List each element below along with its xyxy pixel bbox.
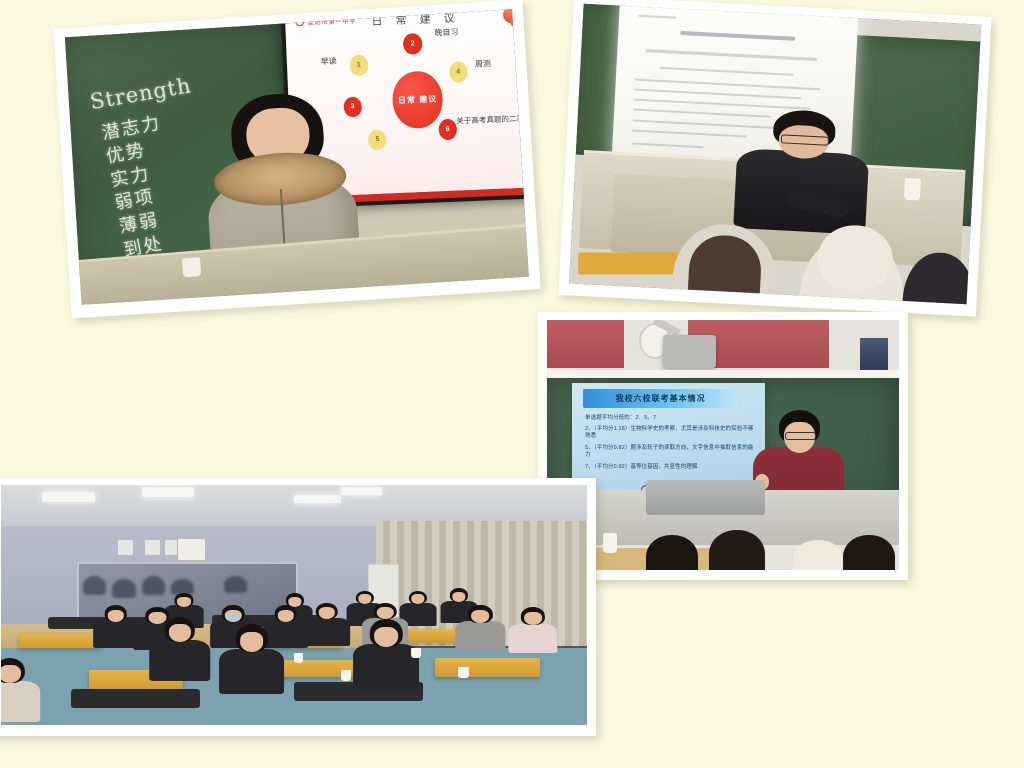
slide-label-evening-study: 晚自习 bbox=[434, 26, 458, 38]
paper-cup bbox=[904, 178, 921, 201]
desk-r1c bbox=[435, 658, 540, 677]
audience-head-2 bbox=[709, 530, 765, 570]
lantern-decoration bbox=[496, 9, 529, 37]
wall-panel-left bbox=[547, 320, 624, 368]
attendee-r2-7 bbox=[517, 607, 550, 648]
slide-label-exam-reuse: 关于高考真题的二次 开发利用 bbox=[456, 113, 529, 127]
slide-node-1: 1 bbox=[349, 54, 368, 75]
photo-2-image bbox=[569, 4, 981, 304]
slide-node-5: 5 bbox=[368, 129, 387, 150]
seat-back-r1a bbox=[71, 689, 200, 708]
ceiling-projector bbox=[663, 335, 716, 368]
slide-node-2: 2 bbox=[403, 33, 422, 54]
slide-bullet-1: 单选题平均分低的：2、5、7 bbox=[585, 415, 656, 422]
glasses-icon bbox=[785, 432, 816, 440]
slide-center-node: 日常 建议 bbox=[392, 70, 444, 129]
paper-cup-4 bbox=[458, 667, 469, 678]
audience-head-3 bbox=[793, 540, 842, 570]
ceiling-light-1 bbox=[42, 492, 95, 502]
slide-label-weekly-test: 周测 bbox=[475, 59, 491, 71]
photo-3-image: 我校六校联考基本情况 单选题平均分低的：2、5、7 2、（平均分1.18）生物科… bbox=[547, 320, 899, 570]
chalkboard-chinese-text: 潜志力 优势 实力 弱项 薄弱 到处 bbox=[100, 112, 185, 263]
wall-speaker-1 bbox=[118, 540, 133, 554]
photo-female-teacher-red-slide[interactable]: Strength 潜志力 优势 实力 弱项 薄弱 到处 昆阳市第一中学 日 常 … bbox=[53, 0, 540, 318]
attendee-r1-1 bbox=[159, 617, 200, 675]
back-row-person-3 bbox=[142, 576, 165, 595]
document-camera bbox=[646, 480, 766, 515]
attendee-r2-3 bbox=[271, 605, 301, 643]
desk-r2a bbox=[19, 634, 101, 648]
back-row-person-2 bbox=[112, 579, 135, 598]
wall-clock bbox=[177, 538, 206, 562]
slide-bullet-2: 2、（平均分1.18）生物科学史的考察，尤其是涉及科技史的实验不够熟悉 bbox=[585, 426, 755, 441]
attendee-r2-4 bbox=[312, 603, 342, 641]
slide-node-4: 4 bbox=[449, 61, 468, 82]
chalkboard-english-text: Strength bbox=[89, 73, 194, 114]
ceiling-light-3 bbox=[294, 495, 341, 503]
paper-cup-1 bbox=[294, 653, 303, 663]
wall-speaker bbox=[860, 338, 888, 373]
projected-document-title bbox=[680, 31, 795, 41]
collage-canvas: Strength 潜志力 优势 实力 弱项 薄弱 到处 昆阳市第一中学 日 常 … bbox=[0, 0, 1024, 768]
paper-cup-2 bbox=[341, 670, 352, 681]
attendee-r1-2 bbox=[230, 624, 274, 686]
slide-node-6: 6 bbox=[438, 119, 457, 140]
teacher-figure bbox=[748, 108, 857, 225]
attendee-r2-6 bbox=[464, 605, 497, 646]
attendee-r1-edge bbox=[1, 658, 30, 716]
photo-audience-classroom[interactable] bbox=[0, 478, 596, 736]
ceiling-light-2 bbox=[142, 487, 195, 497]
back-row-person-1 bbox=[83, 576, 106, 595]
slide-title: 我校六校联考基本情况 bbox=[583, 389, 738, 408]
wall-speaker-2 bbox=[145, 540, 160, 554]
audience-head-1 bbox=[646, 535, 699, 570]
attendee-r3-4 bbox=[405, 591, 430, 622]
slide-label-morning-reading: 早读 bbox=[321, 56, 337, 68]
ceiling-light-4 bbox=[341, 487, 382, 494]
photo-4-image bbox=[1, 485, 587, 725]
student-desk bbox=[578, 253, 681, 275]
paper-cup bbox=[182, 257, 201, 277]
slide-school-logo: 昆阳市第一中学 bbox=[295, 15, 356, 28]
photo-1-image: Strength 潜志力 优势 实力 弱项 薄弱 到处 昆阳市第一中学 日 常 … bbox=[65, 9, 529, 305]
paper-cup-3 bbox=[411, 648, 420, 658]
attendee-r2-1 bbox=[101, 605, 131, 643]
slide-bullet-4: 7、（平均分0.92）基等位基因，共显性的理解 bbox=[585, 464, 755, 471]
paper-cup bbox=[603, 533, 617, 553]
back-row-person-5 bbox=[224, 576, 247, 593]
attendee-r1-3 bbox=[364, 619, 408, 681]
slide-bullet-3: 5、（平均分0.82）题涉及轮子的读取方向，文字信息中抽取信息的能力 bbox=[585, 445, 755, 460]
photo-male-teacher-podium[interactable] bbox=[558, 0, 991, 317]
ceiling bbox=[1, 485, 587, 526]
